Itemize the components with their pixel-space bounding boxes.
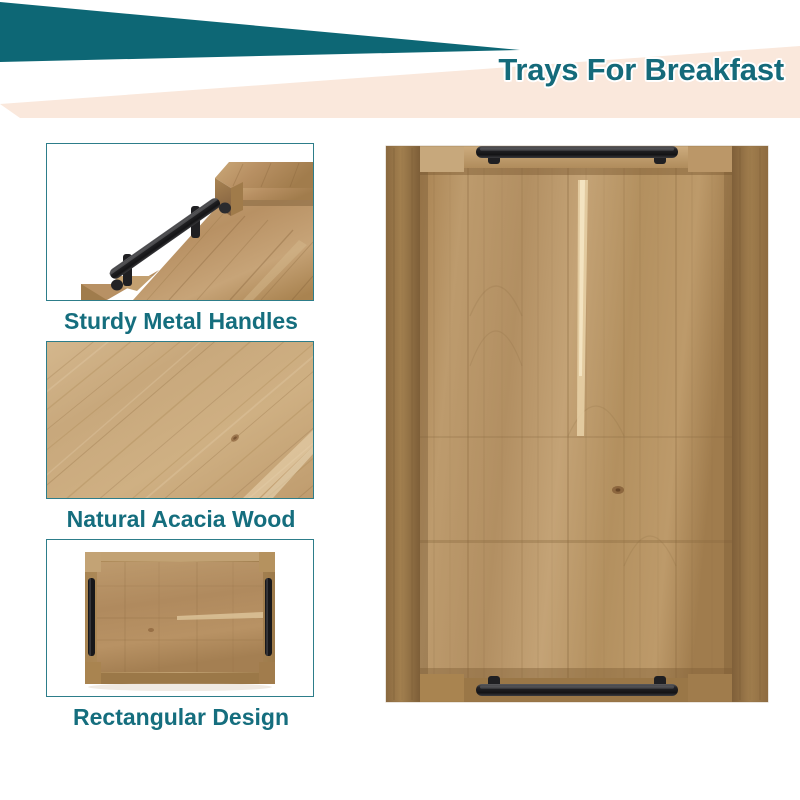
feature-card-rectangular-design[interactable]: Rectangular Design bbox=[46, 539, 316, 737]
wood-grain-texture-illustration bbox=[47, 342, 313, 498]
feature-image-rectangular-design bbox=[46, 539, 314, 697]
feature-card-natural-acacia-wood[interactable]: Natural Acacia Wood bbox=[46, 341, 316, 539]
feature-image-sturdy-metal-handles bbox=[46, 143, 314, 301]
feature-card-sturdy-metal-handles[interactable]: Sturdy Metal Handles bbox=[46, 143, 316, 341]
page-title: Trays For Breakfast bbox=[498, 52, 784, 88]
feature-list: Sturdy Metal Handles bbox=[46, 143, 316, 737]
main-product-image bbox=[372, 136, 782, 716]
feature-image-natural-acacia-wood bbox=[46, 341, 314, 499]
feature-label-natural-acacia-wood: Natural Acacia Wood bbox=[46, 499, 316, 539]
header-banner: Trays For Breakfast bbox=[0, 0, 800, 120]
tray-handle-right bbox=[265, 578, 272, 656]
feature-label-sturdy-metal-handles: Sturdy Metal Handles bbox=[46, 301, 316, 341]
main-tray-illustration bbox=[372, 136, 782, 716]
feature-label-rectangular-design: Rectangular Design bbox=[46, 697, 316, 737]
banner-teal-shape bbox=[0, 2, 520, 62]
handle-closeup-illustration bbox=[47, 144, 313, 300]
tray-handle-left bbox=[88, 578, 95, 656]
tray-topview-illustration bbox=[47, 540, 313, 696]
